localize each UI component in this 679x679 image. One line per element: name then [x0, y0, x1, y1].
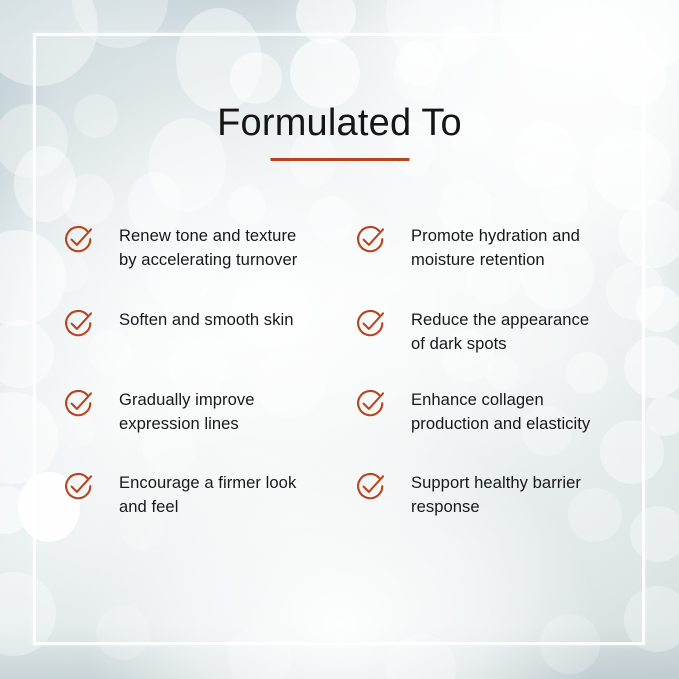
check-circle-icon [354, 307, 387, 340]
list-item: Soften and smooth skin [62, 306, 352, 340]
page-title: Formulated To [0, 104, 679, 142]
check-circle-icon [354, 387, 387, 420]
list-item: Support healthy barrier response [354, 469, 644, 519]
list-item-label: Support healthy barrier response [411, 469, 581, 519]
list-item: Reduce the appearance of dark spots [354, 306, 644, 356]
check-circle-icon [354, 470, 387, 503]
list-item-label: Soften and smooth skin [119, 306, 294, 332]
check-circle-icon [62, 387, 95, 420]
title-underline-rule [270, 158, 409, 161]
list-item: Enhance collagen production and elastici… [354, 386, 644, 436]
list-item-label: Promote hydration and moisture retention [411, 222, 580, 272]
check-circle-icon [62, 307, 95, 340]
list-item-label: Encourage a firmer look and feel [119, 469, 296, 519]
list-item: Renew tone and texture by accelerating t… [62, 222, 352, 272]
content-area: Formulated To Renew tone and texture by … [0, 0, 679, 679]
list-item-label: Enhance collagen production and elastici… [411, 386, 590, 436]
list-item: Promote hydration and moisture retention [354, 222, 644, 272]
list-item: Encourage a firmer look and feel [62, 469, 352, 519]
list-item-label: Renew tone and texture by accelerating t… [119, 222, 297, 272]
list-item-label: Gradually improve expression lines [119, 386, 255, 436]
formulated-to-infographic: Formulated To Renew tone and texture by … [0, 0, 679, 679]
list-item-label: Reduce the appearance of dark spots [411, 306, 589, 356]
check-circle-icon [354, 223, 387, 256]
check-circle-icon [62, 223, 95, 256]
check-circle-icon [62, 470, 95, 503]
list-item: Gradually improve expression lines [62, 386, 352, 436]
